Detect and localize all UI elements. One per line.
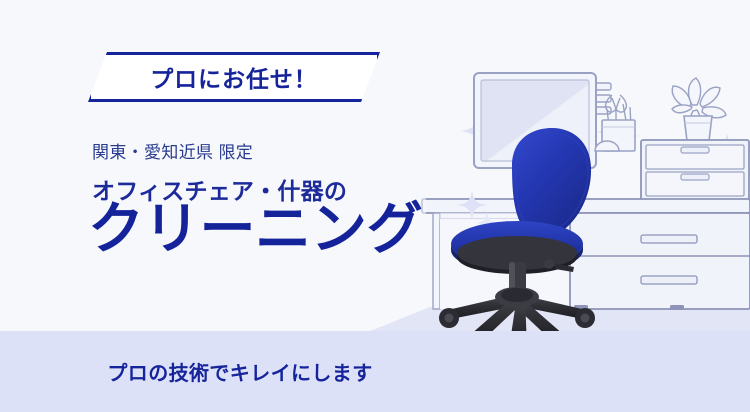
badge-label: プロにお任せ！ [88, 52, 380, 102]
headline-line-2: クリーニング [88, 200, 422, 259]
pro-badge: プロにお任せ！ [88, 52, 380, 102]
storage-box [641, 140, 749, 200]
cleaning-service-banner: プロの技術でキレイにします プロにお任せ！ 関東・愛知近県 限定 オフィスチェア… [0, 0, 750, 412]
region-eyebrow: 関東・愛知近県 限定 [92, 138, 253, 163]
footer-tagline: プロの技術でキレイにします [0, 331, 480, 412]
